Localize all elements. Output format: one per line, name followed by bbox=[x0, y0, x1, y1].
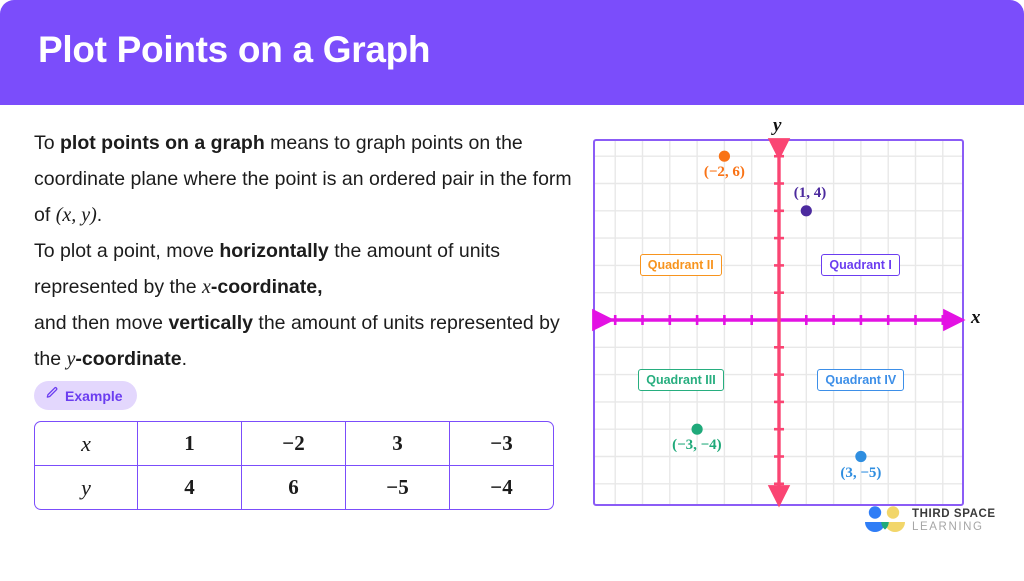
data-point bbox=[719, 151, 730, 162]
table-cell: −2 bbox=[242, 421, 346, 466]
p1-a: To bbox=[34, 132, 60, 154]
table-cell: 4 bbox=[138, 466, 242, 510]
p2-d: -coordinate, bbox=[211, 276, 323, 298]
table-cell: −3 bbox=[450, 421, 554, 466]
table-cell: −4 bbox=[450, 466, 554, 510]
data-point bbox=[855, 451, 866, 462]
logo-mark-icon bbox=[862, 505, 908, 539]
data-point-label: (1, 4) bbox=[794, 185, 827, 202]
p1-bold: plot points on a graph bbox=[60, 132, 265, 154]
page-header: Plot Points on a Graph bbox=[0, 0, 1024, 105]
table-cell: 3 bbox=[346, 421, 450, 466]
coordinate-plane-graph: x y (−2, 6)(1, 4)(−3, −4)(3, −5)Quadrant… bbox=[560, 112, 1000, 522]
quadrant-label: Quadrant II bbox=[640, 254, 722, 276]
third-space-learning-logo: THIRD SPACE LEARNING bbox=[862, 505, 1012, 549]
logo-line-2: LEARNING bbox=[912, 521, 996, 533]
p3-a: and then move bbox=[34, 312, 168, 334]
quadrant-label: Quadrant IV bbox=[817, 369, 904, 391]
logo-text: THIRD SPACE LEARNING bbox=[912, 508, 996, 533]
paragraph-2: To plot a point, move horizontally the a… bbox=[34, 233, 579, 305]
table-cell: −5 bbox=[346, 466, 450, 510]
data-point-label: (−2, 6) bbox=[704, 164, 745, 181]
pencil-icon bbox=[45, 386, 59, 405]
lesson-body: To plot points on a graph means to graph… bbox=[34, 125, 579, 377]
page-title: Plot Points on a Graph bbox=[38, 29, 430, 71]
p2-bold: horizontally bbox=[219, 240, 328, 262]
example-badge: Example bbox=[34, 381, 137, 410]
table-row: x1−23−3 bbox=[34, 421, 554, 466]
p2-a: To plot a point, move bbox=[34, 240, 219, 262]
example-badge-label: Example bbox=[65, 388, 123, 404]
p3-e: . bbox=[182, 348, 187, 370]
ordered-pair-expr: (x, y) bbox=[56, 204, 97, 226]
table-row-header: y bbox=[34, 466, 138, 510]
paragraph-1: To plot points on a graph means to graph… bbox=[34, 125, 579, 233]
table-row: y46−5−4 bbox=[34, 466, 554, 510]
data-point bbox=[692, 424, 703, 435]
y-axis-label: y bbox=[773, 115, 781, 137]
graph-svg bbox=[560, 112, 1000, 522]
x-axis-label: x bbox=[971, 307, 981, 329]
table-cell: 1 bbox=[138, 421, 242, 466]
quadrant-label: Quadrant III bbox=[638, 369, 723, 391]
coordinates-table: x1−23−3y46−5−4 bbox=[34, 421, 554, 510]
x-variable: x bbox=[202, 276, 211, 298]
quadrant-label: Quadrant I bbox=[821, 254, 900, 276]
logo-line-1: THIRD SPACE bbox=[912, 508, 996, 520]
lesson-card: Plot Points on a Graph To plot points on… bbox=[0, 0, 1024, 581]
p3-bold: vertically bbox=[168, 312, 253, 334]
p1-d: . bbox=[97, 204, 102, 226]
data-point-label: (3, −5) bbox=[840, 465, 881, 482]
paragraph-3: and then move vertically the amount of u… bbox=[34, 305, 579, 377]
data-point-label: (−3, −4) bbox=[672, 437, 722, 454]
p3-d: -coordinate bbox=[75, 348, 181, 370]
table-row-header: x bbox=[34, 421, 138, 466]
table-cell: 6 bbox=[242, 466, 346, 510]
data-point bbox=[801, 205, 812, 216]
